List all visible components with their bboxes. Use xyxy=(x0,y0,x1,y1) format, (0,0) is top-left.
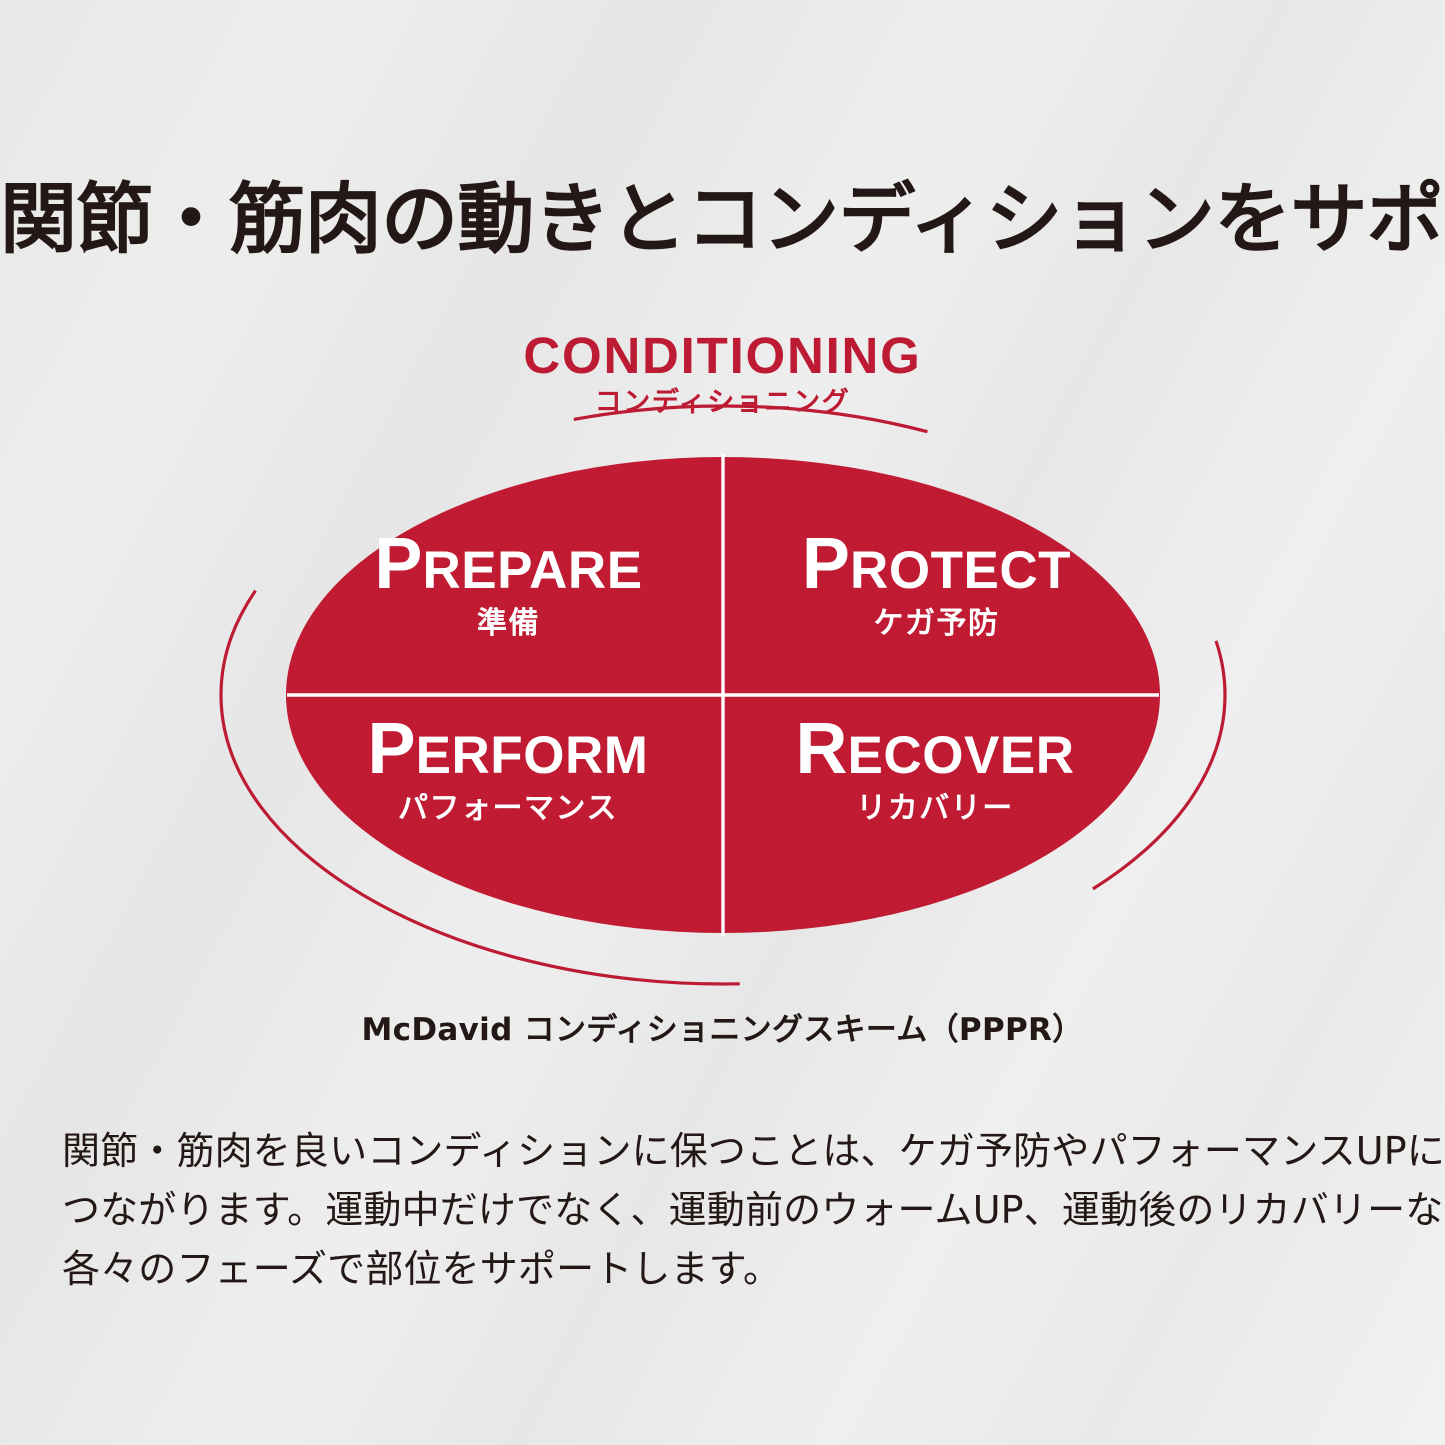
diagram-caption: McDavid コンディショニングスキーム（PPPR） xyxy=(0,1004,1445,1049)
body-line-2: つながります。運動中だけでなく、運動前のウォームUP、運動後のリカバリーなど xyxy=(62,1181,1392,1240)
conditioning-diagram: CONDITIONING コンディショニング PREPARE 準備 PROTEC… xyxy=(0,330,1445,990)
body-paragraph: 関節・筋肉を良いコンディションに保つことは、ケガ予防やパフォーマンスUPに つな… xyxy=(62,1122,1392,1299)
diagram-graphics xyxy=(163,330,1283,990)
poster-page: 関節・筋肉の動きとコンディションをサポート CONDITIONING コンディシ… xyxy=(0,0,1445,1445)
body-line-3: 各々のフェーズで部位をサポートします。 xyxy=(62,1240,1392,1299)
body-line-1: 関節・筋肉を良いコンディションに保つことは、ケガ予防やパフォーマンスUPに xyxy=(62,1122,1392,1181)
page-title: 関節・筋肉の動きとコンディションをサポート xyxy=(0,178,1445,264)
